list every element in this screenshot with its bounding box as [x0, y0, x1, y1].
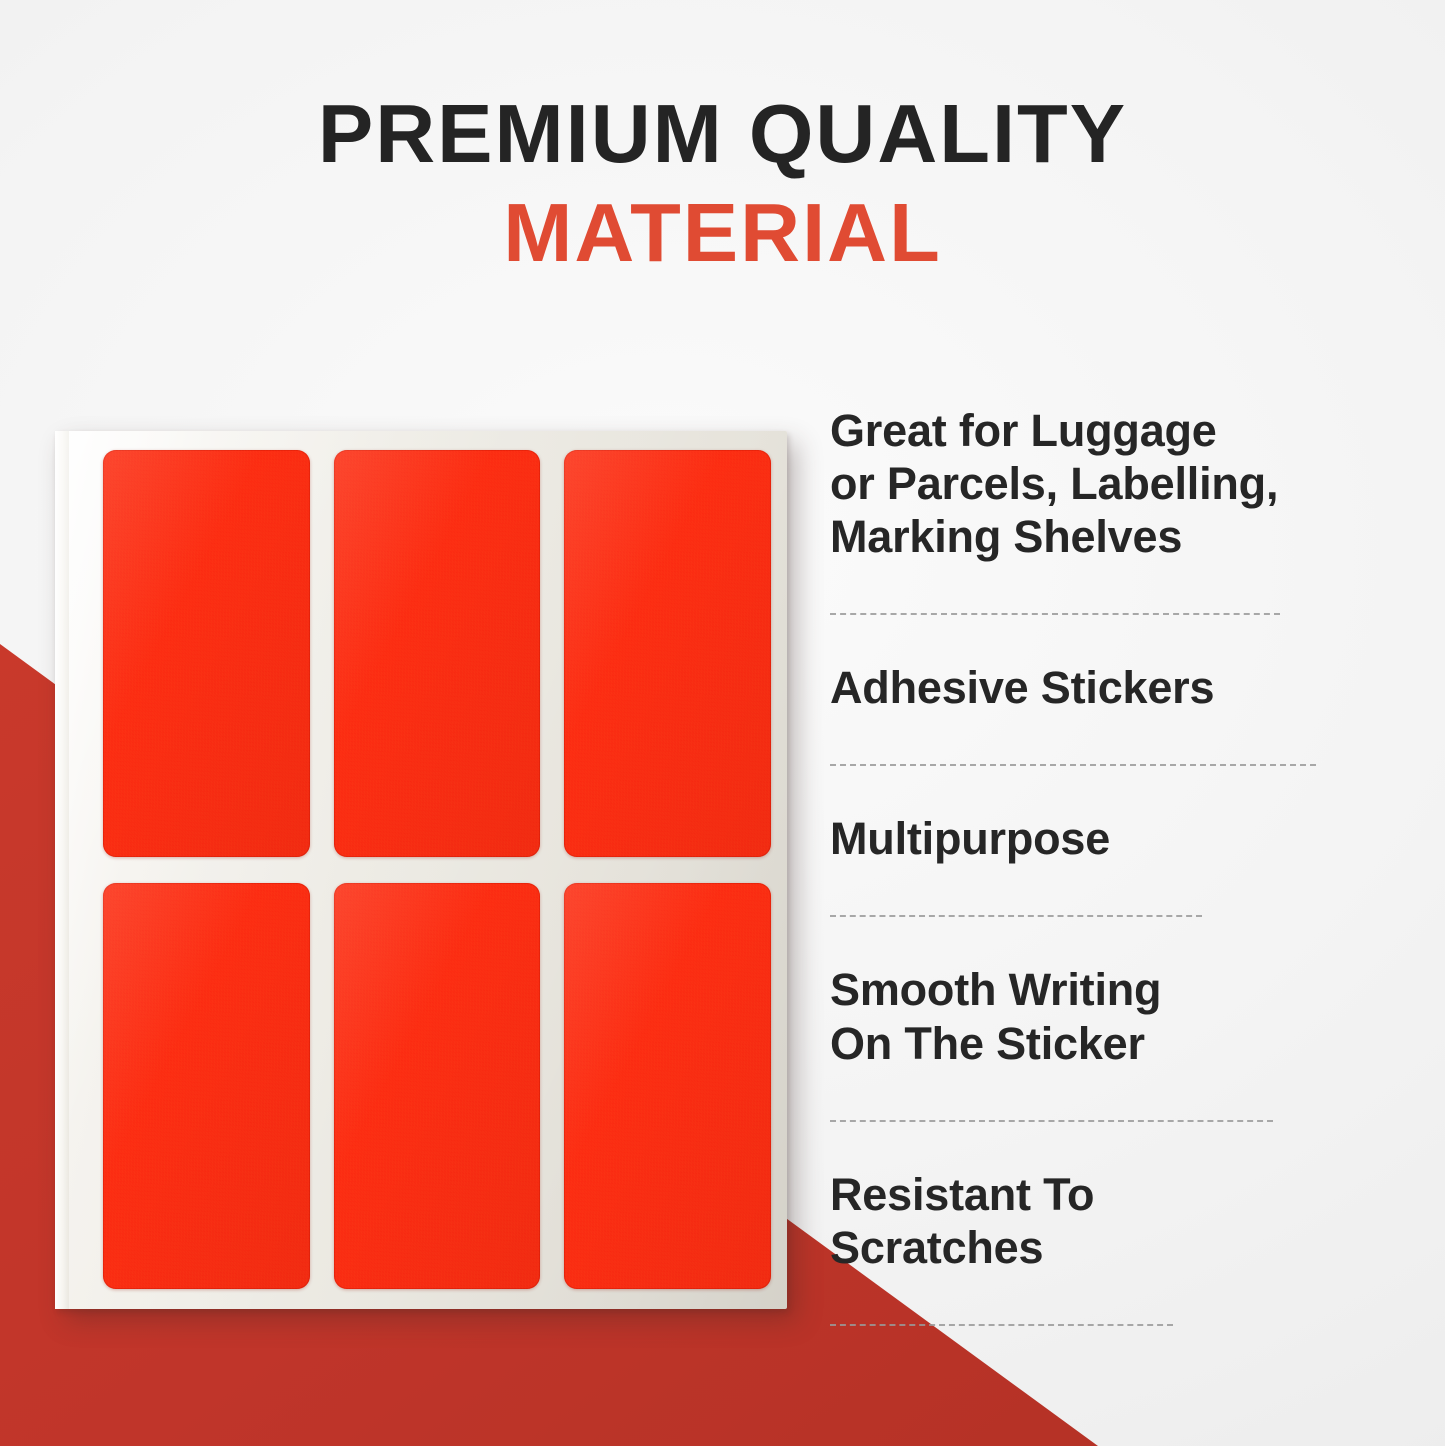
sticker-4: [103, 883, 310, 1290]
feature-use-cases: Great for Luggage or Parcels, Labelling,…: [830, 404, 1350, 563]
feature-smooth-writing-label: Smooth Writing On The Sticker: [830, 963, 1350, 1069]
sticker-1: [103, 450, 310, 857]
feature-smooth-writing: Smooth Writing On The Sticker: [830, 963, 1350, 1069]
spacer: [830, 1070, 1350, 1120]
spacer: [830, 714, 1350, 764]
feature-multipurpose-label: Multipurpose: [830, 812, 1350, 865]
spacer: [830, 917, 1350, 963]
sticker-5: [334, 883, 541, 1290]
feature-scratch-resistant-label: Resistant To Scratches: [830, 1168, 1350, 1274]
page-title-line-2: MATERIAL: [0, 191, 1445, 274]
feature-divider-5: [830, 1324, 1173, 1326]
page-title-line-1: PREMIUM QUALITY: [0, 92, 1445, 175]
page-title: PREMIUM QUALITY MATERIAL: [0, 92, 1445, 274]
feature-use-cases-label: Great for Luggage or Parcels, Labelling,…: [830, 404, 1350, 563]
feature-adhesive: Adhesive Stickers: [830, 661, 1350, 714]
spacer: [830, 563, 1350, 613]
spacer: [830, 615, 1350, 661]
spacer: [830, 1274, 1350, 1324]
spacer: [830, 766, 1350, 812]
feature-adhesive-label: Adhesive Stickers: [830, 661, 1350, 714]
sticker-3: [564, 450, 771, 857]
sticker-grid: [103, 450, 771, 1289]
sticker-6: [564, 883, 771, 1290]
feature-divider-3: [830, 915, 1202, 917]
sticker-2: [334, 450, 541, 857]
product-infographic-poster: PREMIUM QUALITY MATERIAL Great for Lugga…: [0, 0, 1445, 1446]
spacer: [830, 1122, 1350, 1168]
product-image-sticker-sheet: [55, 431, 787, 1309]
feature-scratch-resistant: Resistant To Scratches: [830, 1168, 1350, 1274]
spacer: [830, 865, 1350, 915]
feature-divider-2: [830, 764, 1316, 766]
feature-multipurpose: Multipurpose: [830, 812, 1350, 865]
feature-divider-1: [830, 613, 1280, 615]
feature-divider-4: [830, 1120, 1273, 1122]
feature-list: Great for Luggage or Parcels, Labelling,…: [830, 404, 1350, 1326]
